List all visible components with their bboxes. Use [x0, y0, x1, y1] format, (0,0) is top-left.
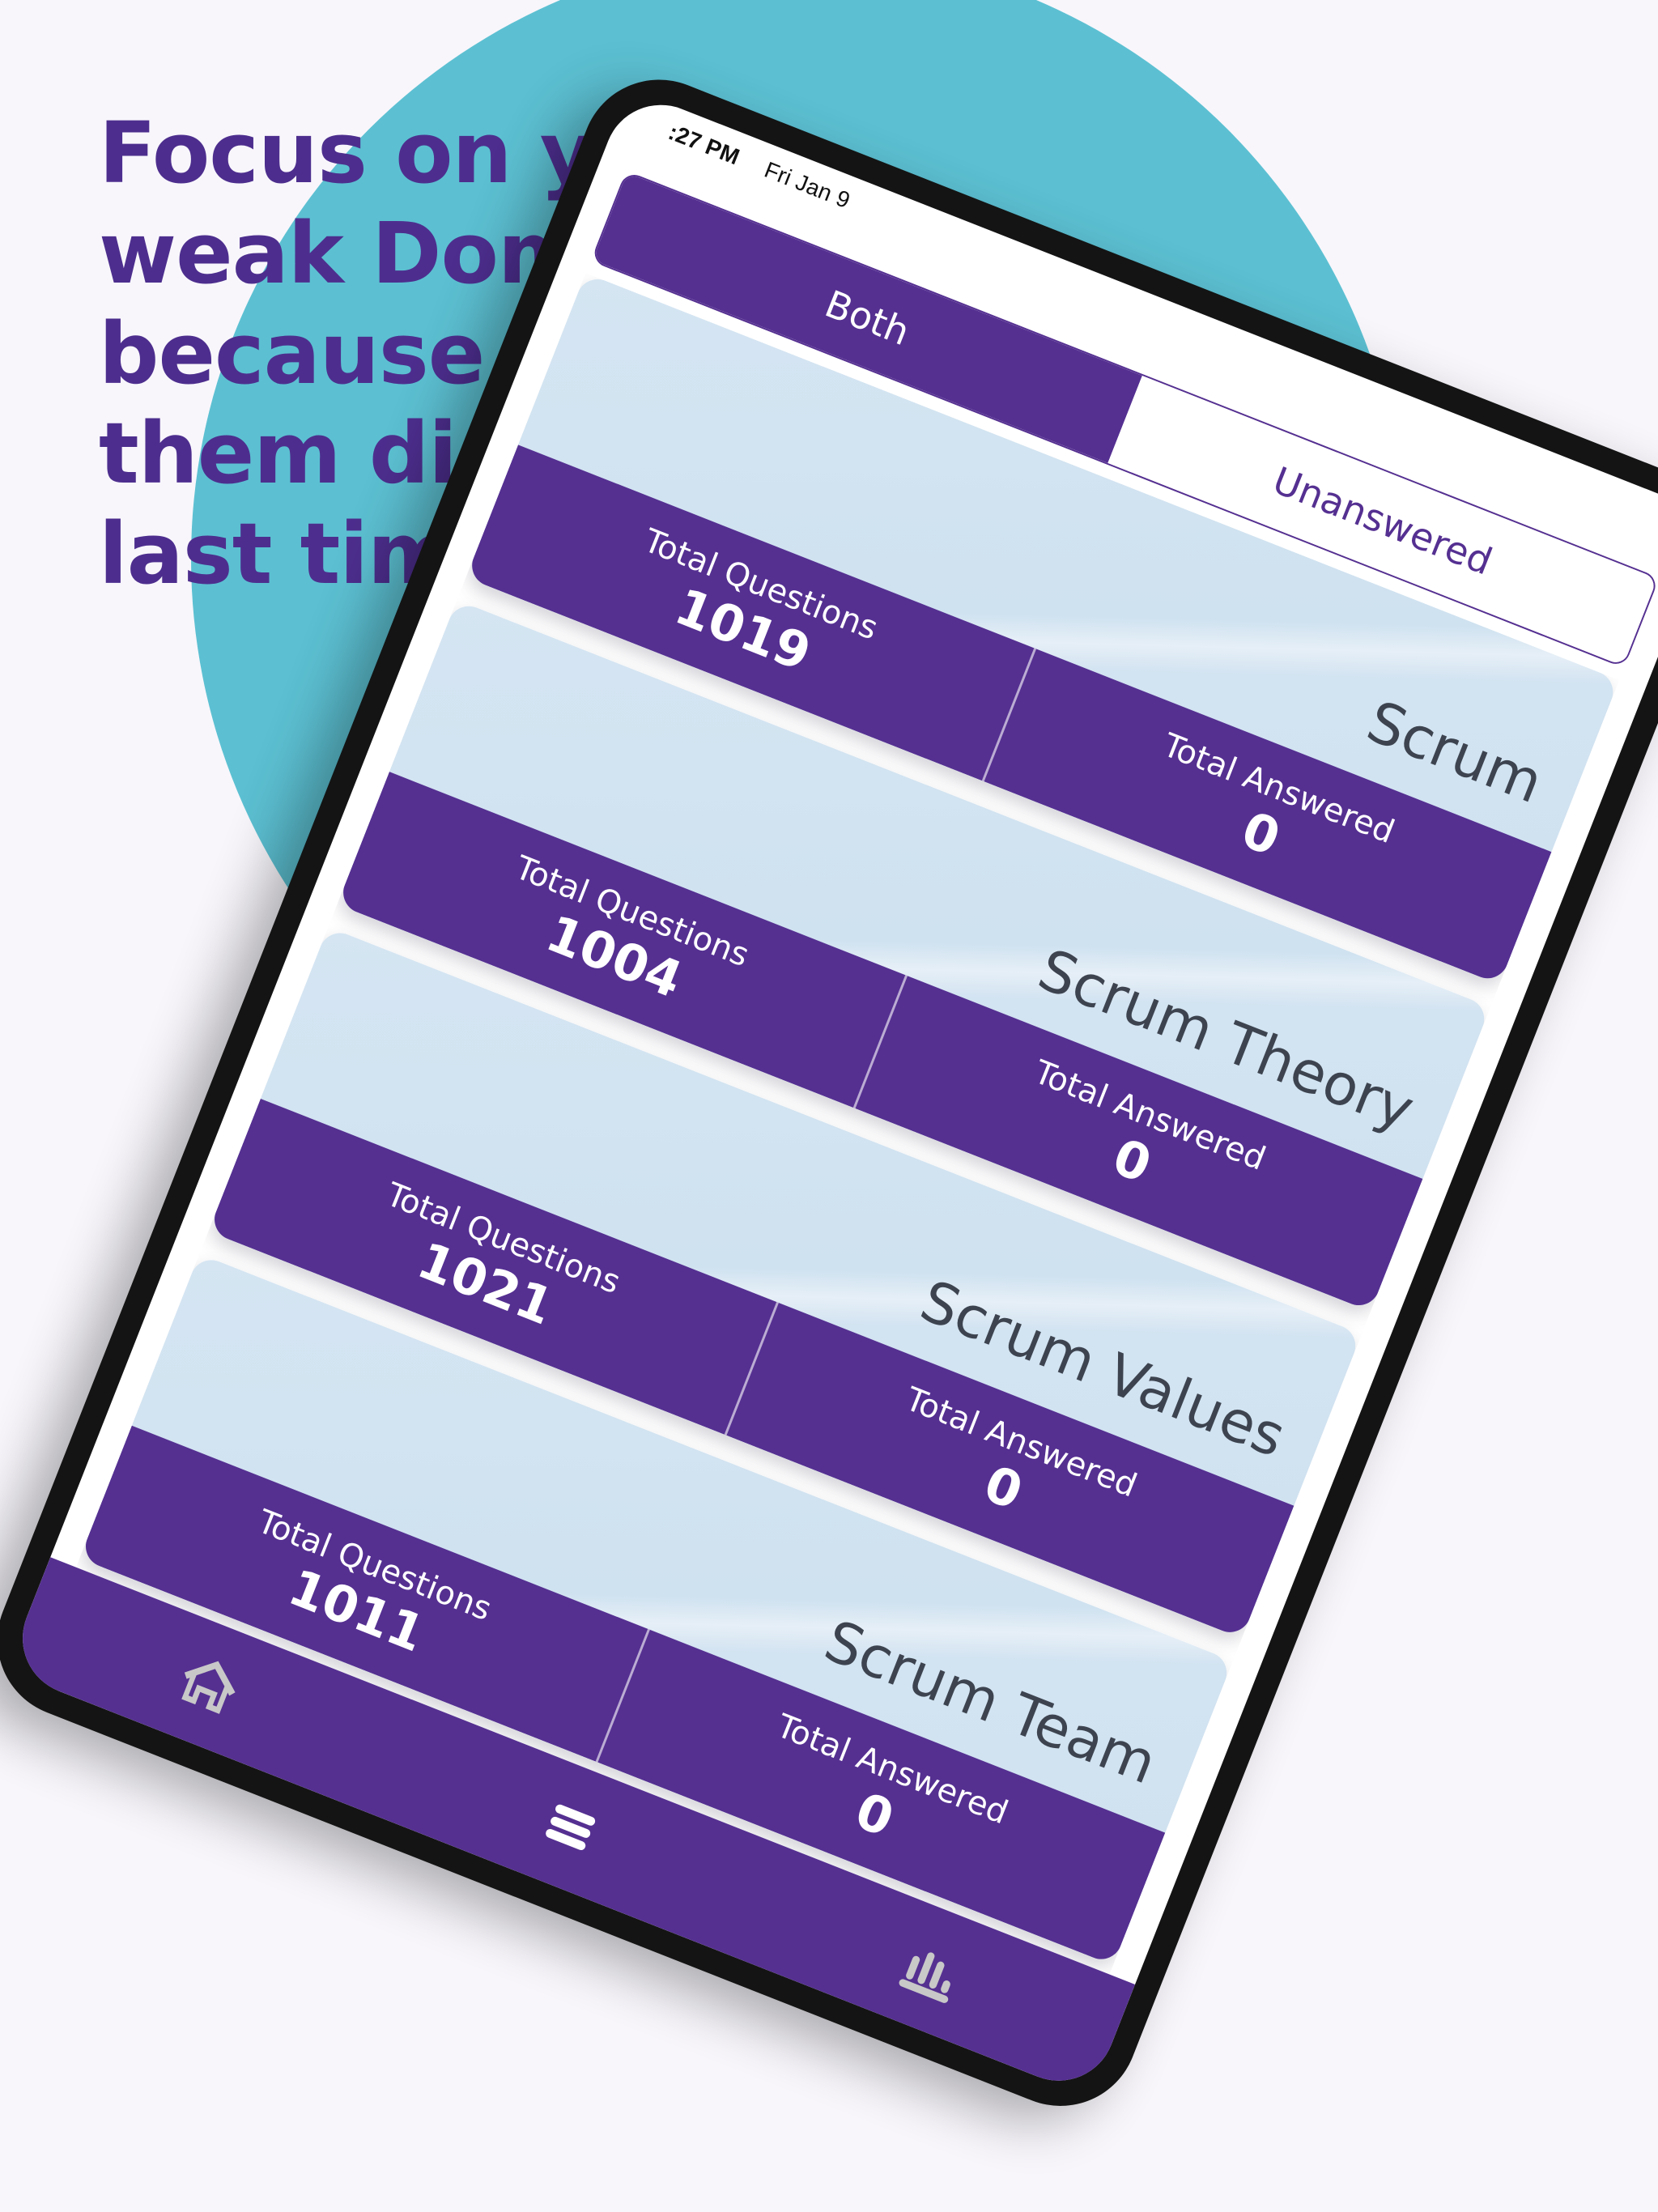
status-bar-date: Fri Jan 9 [761, 157, 854, 214]
tab-home[interactable] [146, 1622, 272, 1748]
stat-value: 0 [1234, 801, 1287, 867]
bar-chart-icon [886, 1925, 977, 2015]
tab-stats[interactable] [869, 1907, 995, 2033]
status-bar-time: :27 PM [665, 119, 743, 170]
stat-value: 0 [976, 1455, 1030, 1521]
home-icon [164, 1640, 254, 1730]
list-icon [529, 1786, 611, 1868]
app-store-promo-screenshot: Focus on your weak Domains... because ig… [0, 0, 1658, 2212]
stat-value: 0 [1105, 1128, 1158, 1194]
stat-value: 1012 [152, 1885, 304, 1974]
stat-value: 0 [848, 1781, 901, 1848]
tab-domains[interactable] [508, 1764, 634, 1891]
